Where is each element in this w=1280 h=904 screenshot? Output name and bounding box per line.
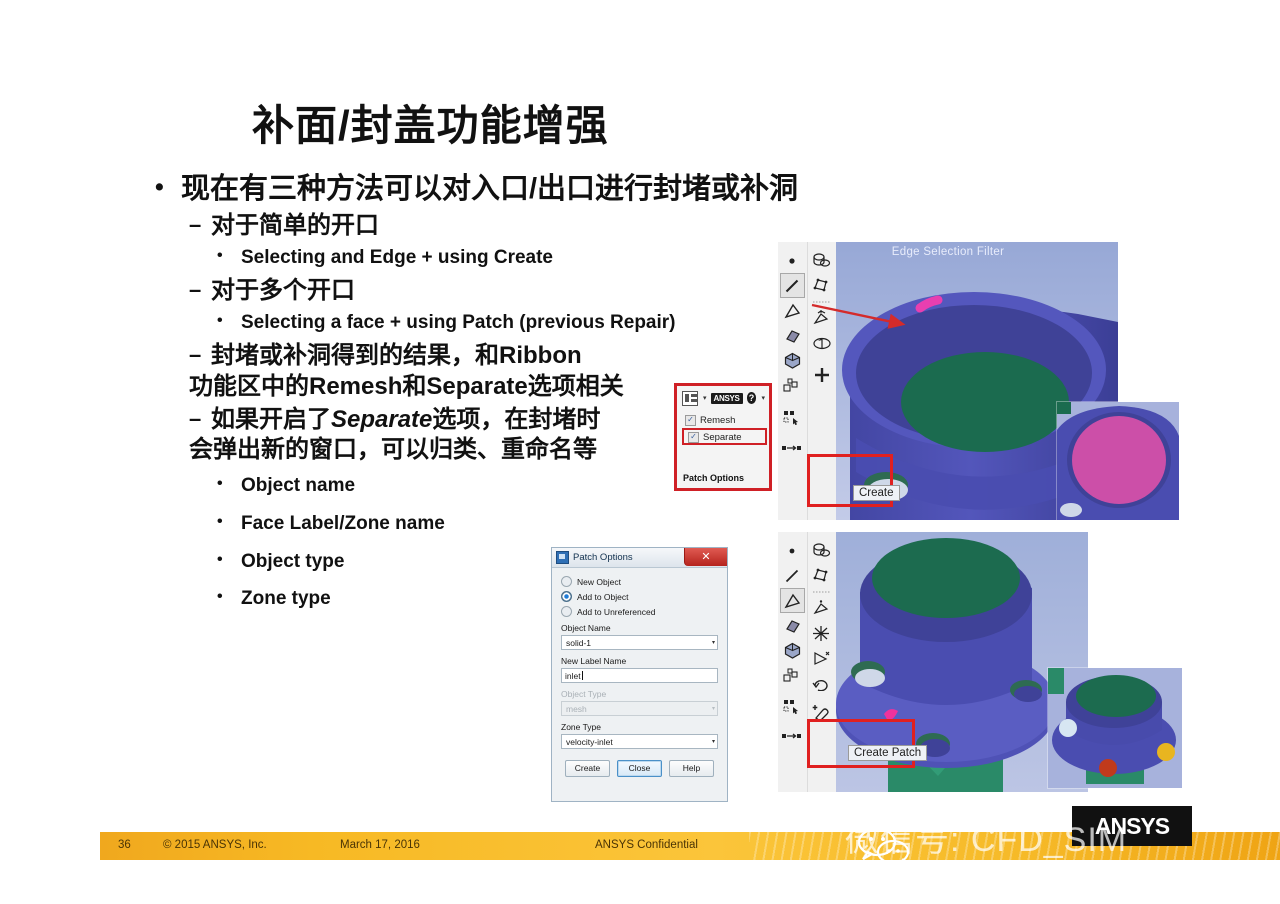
separate-checkbox-row[interactable]: ✓ Separate xyxy=(686,430,763,443)
bullet-level2-text: 对于多个开口 xyxy=(211,277,355,306)
dash-glyph: – xyxy=(189,277,211,303)
chevron-down-icon[interactable]: ▾ xyxy=(761,394,765,402)
box-select-icon[interactable] xyxy=(780,404,805,429)
radio-icon[interactable] xyxy=(561,606,572,617)
remesh-label: Remesh xyxy=(700,415,735,426)
face-select-icon[interactable] xyxy=(780,298,805,323)
inset-top-image xyxy=(1057,402,1179,520)
bullet-level1-text: 现在有三种方法可以对入口/出口进行封堵或补洞 xyxy=(181,172,798,206)
radio-label: Add to Object xyxy=(577,592,629,602)
object-type-value: mesh xyxy=(566,704,587,714)
object-type-label: Object Type xyxy=(561,689,718,699)
copyright-text: © 2015 ANSYS, Inc. xyxy=(163,839,267,851)
close-button[interactable]: Close xyxy=(617,760,662,777)
ribbon-group-label: Patch Options xyxy=(683,473,744,483)
bullet-level3-text: Zone type xyxy=(241,587,331,611)
object-name-select[interactable]: solid-1 ▾ xyxy=(561,635,718,650)
new-label-name-label: New Label Name xyxy=(561,656,718,666)
dialog-title: Patch Options xyxy=(573,552,633,563)
dot-white xyxy=(1059,719,1077,737)
dot-red xyxy=(1099,759,1117,777)
separate-highlight-box: ✓ Separate xyxy=(682,428,767,445)
separate-keyword: Separate xyxy=(331,406,432,433)
page-title: 补面/封盖功能增强 xyxy=(252,92,609,153)
ribbon-patch-options-panel: ▾ ANSYS ? ▾ ✓ Remesh ✓ Separate Patch Op… xyxy=(674,383,772,491)
ansys-badge: ANSYS xyxy=(711,393,743,404)
dash-glyph: – xyxy=(189,212,211,238)
edge-select-icon[interactable] xyxy=(780,563,805,588)
inset-patched-holes xyxy=(1048,668,1182,788)
object-name-value: solid-1 xyxy=(566,638,591,648)
radio-icon[interactable] xyxy=(561,576,572,587)
radio-add-to-object[interactable]: Add to Object xyxy=(561,591,718,602)
app-icon xyxy=(556,551,569,564)
inset-bottom-image xyxy=(1048,668,1182,788)
dash-glyph: – xyxy=(189,405,201,433)
radio-icon-selected[interactable] xyxy=(561,591,572,602)
radio-new-object[interactable]: New Object xyxy=(561,576,718,587)
bullet-glyph: • xyxy=(217,311,241,331)
confidential-text: ANSYS Confidential xyxy=(595,839,698,851)
help-button[interactable]: Help xyxy=(669,760,714,777)
bullet-level2-text: 对于简单的开口 xyxy=(211,212,379,241)
move-to-icon[interactable] xyxy=(780,723,805,748)
checkbox-icon[interactable]: ✓ xyxy=(688,432,699,443)
dialog-body: New Object Add to Object Add to Unrefere… xyxy=(552,568,727,783)
point-select-icon[interactable] xyxy=(780,538,805,563)
new-label-name-input[interactable]: inlet xyxy=(561,668,718,683)
help-icon[interactable]: ? xyxy=(747,392,757,404)
rotate-tool-icon[interactable] xyxy=(809,331,834,356)
bullet-glyph: • xyxy=(217,512,241,532)
layout-icon[interactable] xyxy=(682,391,698,406)
ribbon-toolbar: ▾ ANSYS ? ▾ xyxy=(677,386,769,407)
zone-select-icon[interactable] xyxy=(780,613,805,638)
toolbar-column-left xyxy=(778,532,807,792)
toolbar-column-left xyxy=(778,242,807,520)
create-tool-icon[interactable] xyxy=(809,362,834,387)
separator-dots-icon xyxy=(809,298,834,306)
dialog-buttons: Create Close Help xyxy=(561,760,718,777)
bullet-level3-text: Selecting and Edge + using Create xyxy=(241,246,553,270)
zone-type-value: velocity-inlet xyxy=(566,737,613,747)
chevron-down-icon[interactable]: ▾ xyxy=(712,639,715,646)
collapse-tool-icon[interactable] xyxy=(809,646,834,671)
multi-object-icon[interactable] xyxy=(780,663,805,688)
wechat-watermark-text: 微信号: CFD_SIM xyxy=(845,812,1127,861)
separate-post: 选项，在封堵时 xyxy=(432,406,600,433)
bullet-glyph: • xyxy=(217,474,241,494)
zone-type-label: Zone Type xyxy=(561,722,718,732)
separate-label: Separate xyxy=(703,432,742,443)
object-select-icon[interactable] xyxy=(780,348,805,373)
merge-tool-icon[interactable] xyxy=(809,621,834,646)
multi-object-icon[interactable] xyxy=(780,373,805,398)
bullet-level3-text: Face Label/Zone name xyxy=(241,512,445,536)
dialog-titlebar[interactable]: Patch Options ✕ xyxy=(552,548,727,568)
face-select-icon[interactable] xyxy=(780,588,805,613)
radio-label: New Object xyxy=(577,577,621,587)
box-select-icon[interactable] xyxy=(780,693,805,718)
create-tooltip: Create xyxy=(853,485,900,501)
dot-yellow xyxy=(1157,743,1175,761)
new-label-name-value: inlet xyxy=(565,671,581,681)
create-button[interactable]: Create xyxy=(565,760,610,777)
bullet-level3-text: Object name xyxy=(241,474,355,498)
body-tool-icon[interactable] xyxy=(809,248,834,273)
date-text: March 17, 2016 xyxy=(340,839,420,851)
inset-capped-inlet-magenta xyxy=(1057,402,1179,520)
radio-label: Add to Unreferenced xyxy=(577,607,655,617)
slide-canvas: 补面/封盖功能增强 • 现在有三种方法可以对入口/出口进行封堵或补洞 – 对于简… xyxy=(0,0,1280,904)
viewport-bottom[interactable]: Create Patch xyxy=(778,532,1088,792)
bullet-level3-text: Selecting a face + using Patch (previous… xyxy=(241,311,676,335)
create-patch-tooltip: Create Patch xyxy=(848,745,927,761)
bullet-level3-text: Object type xyxy=(241,550,344,574)
edge-select-icon[interactable] xyxy=(780,273,805,298)
refresh-tool-icon[interactable] xyxy=(809,671,834,696)
patch-tool-icon[interactable] xyxy=(809,273,834,298)
split-face-icon[interactable] xyxy=(809,306,834,331)
object-select-icon[interactable] xyxy=(780,638,805,663)
point-select-icon[interactable] xyxy=(780,248,805,273)
split-face-icon[interactable] xyxy=(809,596,834,621)
dash-glyph: – xyxy=(189,341,201,369)
chevron-down-icon[interactable]: ▾ xyxy=(712,738,715,745)
bullet-glyph: • xyxy=(217,587,241,607)
text-caret xyxy=(582,671,583,680)
patch-tool-icon[interactable] xyxy=(809,563,834,588)
body-tool-icon[interactable] xyxy=(809,538,834,563)
remesh-checkbox-row[interactable]: ✓ Remesh xyxy=(677,413,769,426)
chevron-down-icon: ▾ xyxy=(712,705,715,712)
zone-type-select[interactable]: velocity-inlet ▾ xyxy=(561,734,718,749)
radio-add-to-unreferenced[interactable]: Add to Unreferenced xyxy=(561,606,718,617)
bullet-glyph: • xyxy=(217,246,241,266)
separate-pre: 如果开启了 xyxy=(211,406,331,433)
separator-dots-icon xyxy=(809,588,834,596)
bullet-level2-simple: – 对于简单的开口 xyxy=(155,212,935,241)
close-icon[interactable]: ✕ xyxy=(684,548,727,566)
checkbox-icon[interactable]: ✓ xyxy=(685,415,696,426)
object-type-select: mesh ▾ xyxy=(561,701,718,716)
page-number: 36 xyxy=(118,839,131,851)
move-to-icon[interactable] xyxy=(780,435,805,460)
chevron-down-icon[interactable]: ▾ xyxy=(703,394,707,402)
bullet-level1: • 现在有三种方法可以对入口/出口进行封堵或补洞 xyxy=(155,172,935,206)
bullet-glyph: • xyxy=(155,172,181,202)
bullet-glyph: • xyxy=(217,550,241,570)
object-name-label: Object Name xyxy=(561,623,718,633)
zone-select-icon[interactable] xyxy=(780,323,805,348)
patch-options-dialog: Patch Options ✕ New Object Add to Object… xyxy=(551,547,728,802)
